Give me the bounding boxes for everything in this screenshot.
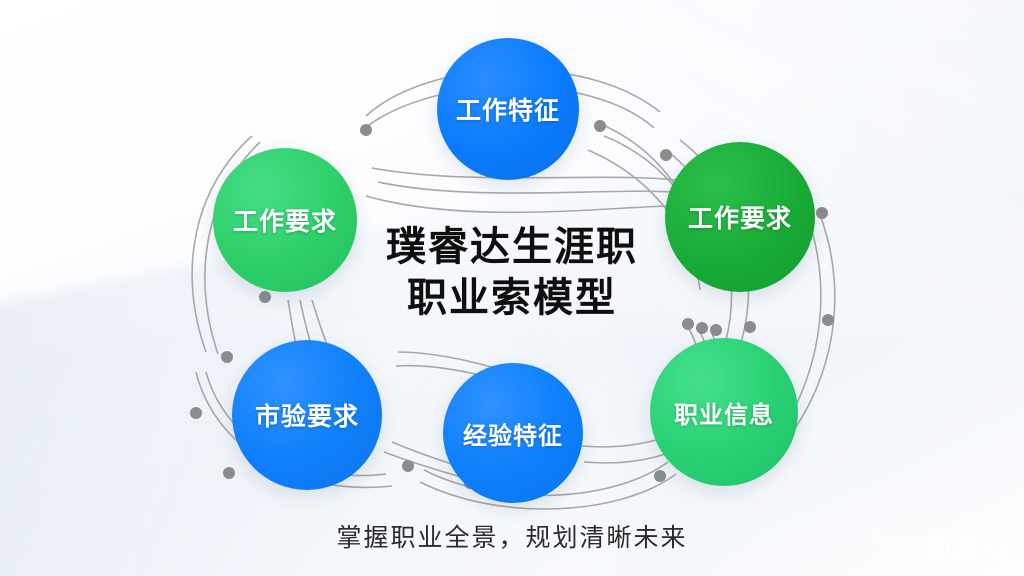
star-swoosh-icon bbox=[871, 530, 917, 564]
node-work-characteristics[interactable]: 工作特征 bbox=[437, 38, 579, 180]
center-title-line-1: 璞睿达生涯职 bbox=[318, 222, 706, 273]
watermark: 即梦AI bbox=[871, 527, 1010, 566]
node-label: 职业信息 bbox=[674, 395, 774, 430]
node-experience-characteristics[interactable]: 经验特征 bbox=[443, 363, 583, 503]
center-title-line-2: 职业索模型 bbox=[318, 273, 706, 324]
node-label: 工作特征 bbox=[456, 91, 560, 127]
node-label: 市验要求 bbox=[255, 397, 359, 433]
node-occupation-information[interactable]: 职业信息 bbox=[650, 338, 798, 486]
node-market-requirements[interactable]: 市验要求 bbox=[232, 340, 382, 490]
watermark-text: 即梦AI bbox=[925, 527, 1010, 566]
slide-canvas: 工作特征 工作要求 工作要求 职业信息 经验特征 市验要求 璞睿达生涯职 职业索… bbox=[0, 0, 1024, 576]
center-title: 璞睿达生涯职 职业索模型 bbox=[318, 222, 706, 324]
node-label: 经验特征 bbox=[463, 416, 563, 451]
